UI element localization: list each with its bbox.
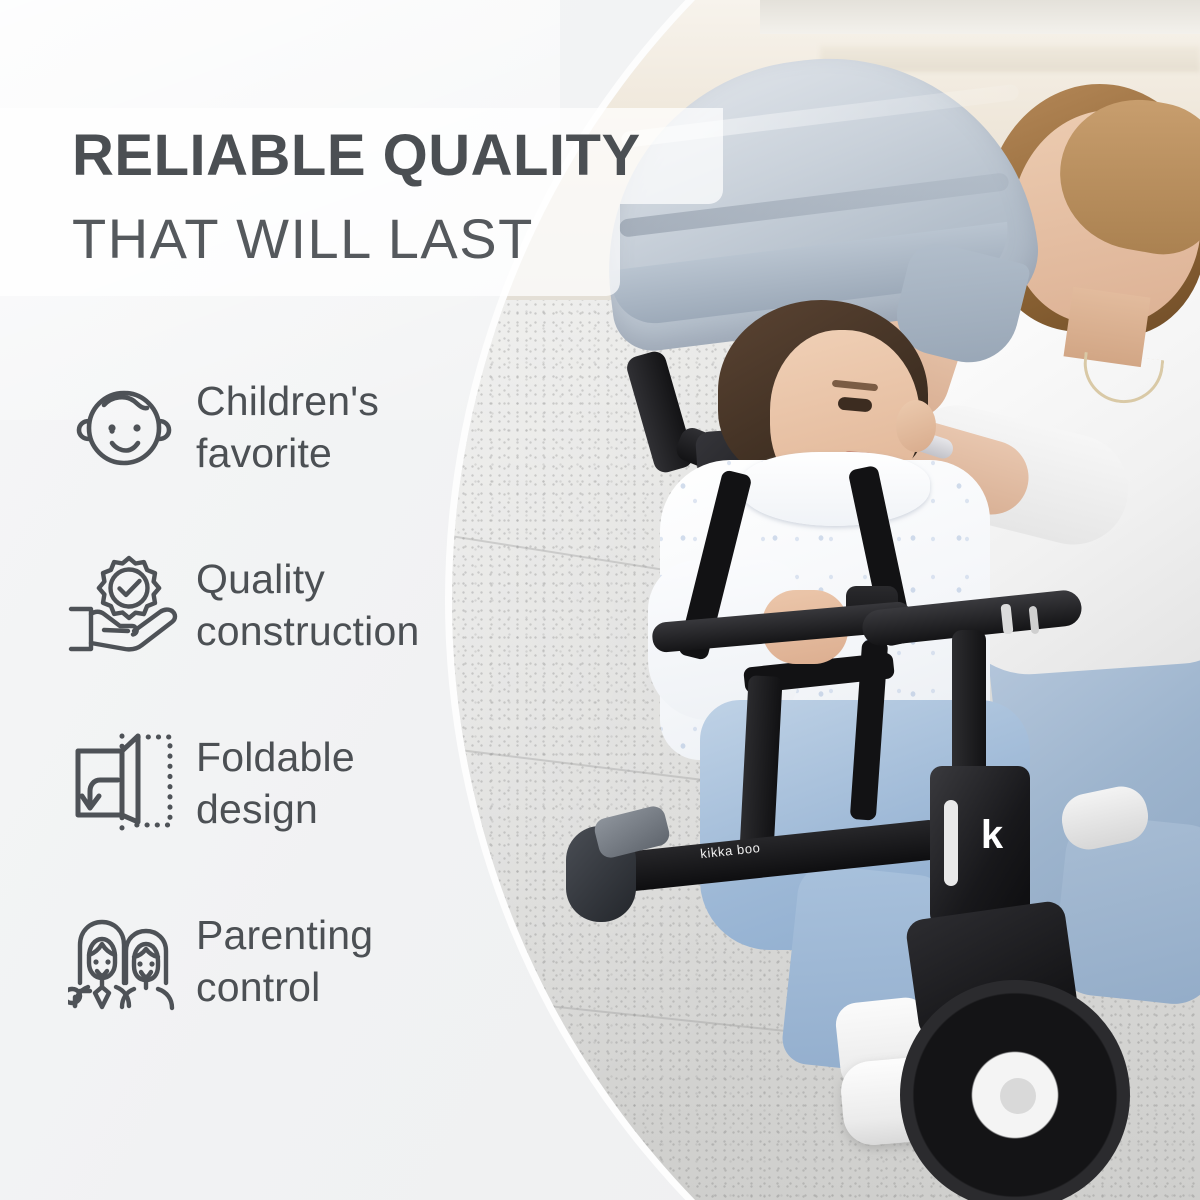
photo-background-ledge <box>760 0 1200 34</box>
child-collar <box>740 452 930 526</box>
brand-k-logo: k <box>972 812 1012 858</box>
feature-label-line1: Parenting <box>196 912 373 958</box>
feature-label-line1: Foldable <box>196 734 355 780</box>
feature-label: Foldable design <box>196 731 355 835</box>
feature-label-line2: control <box>196 964 320 1010</box>
child-ear <box>896 400 936 452</box>
stem <box>952 630 986 780</box>
page-title: RELIABLE QUALITY <box>72 125 772 187</box>
feature-label: Parenting control <box>196 909 373 1013</box>
head-block-slot <box>944 800 958 886</box>
foldable-page-icon <box>66 729 182 837</box>
feature-label: Children's favorite <box>196 375 379 479</box>
feature-item-childrens-favorite: Children's favorite <box>66 358 496 496</box>
page-subtitle: THAT WILL LAST <box>72 208 772 270</box>
feature-list: Children's favorite Quality <box>66 358 496 1070</box>
feature-label-line1: Quality <box>196 556 325 602</box>
parents-icon <box>66 907 182 1015</box>
feature-label-line2: favorite <box>196 430 332 476</box>
feature-label-line2: construction <box>196 608 419 654</box>
product-feature-banner: kikka boo k RELIABLE QUALITY THAT WILL L… <box>0 0 1200 1200</box>
feature-item-foldable-design: Foldable design <box>66 714 496 852</box>
baby-face-icon <box>66 373 182 481</box>
feature-label-line2: design <box>196 786 318 832</box>
feature-item-parenting-control: Parenting control <box>66 892 496 1030</box>
feature-label: Quality construction <box>196 553 419 657</box>
feature-item-quality-construction: Quality construction <box>66 536 496 674</box>
quality-badge-hand-icon <box>66 551 182 659</box>
feature-label-line1: Children's <box>196 378 379 424</box>
front-axle <box>1000 1078 1036 1114</box>
